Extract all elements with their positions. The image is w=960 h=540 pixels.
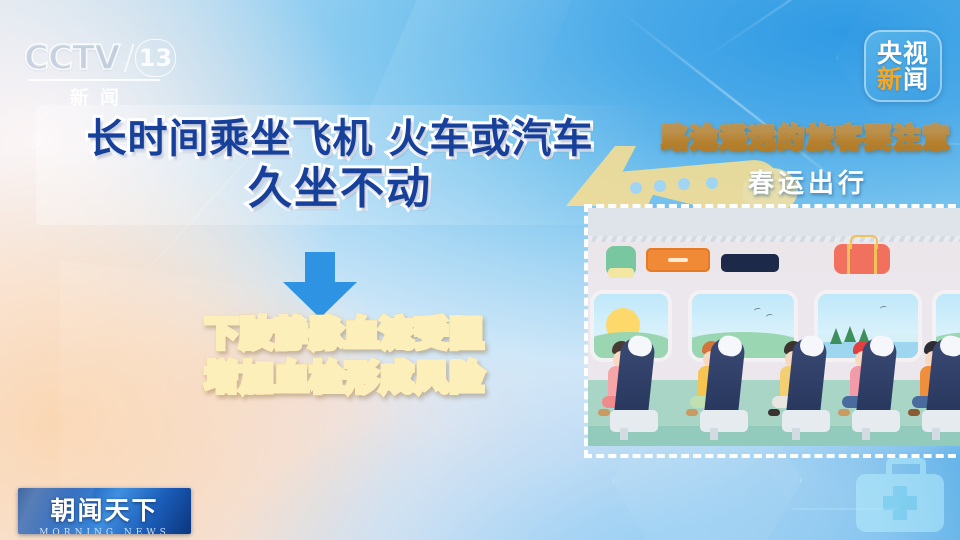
cctv-slash: / [123, 38, 134, 78]
cabin-ceiling [588, 208, 960, 238]
consequence-line-2: 增加血栓形成风险 [170, 356, 520, 400]
luggage-red-duffel [834, 244, 890, 274]
duffel-strap-1 [847, 244, 850, 274]
passenger-4-shoe [838, 409, 850, 416]
seat-3-base [782, 410, 830, 432]
passenger-2-shoe [686, 409, 698, 416]
cctv-underline [28, 79, 160, 81]
cctv-wordmark: CCTV [24, 38, 119, 78]
window-tree-3 [830, 328, 842, 344]
badge-line-2: 新闻 [877, 67, 929, 92]
program-banner: 朝闻天下 MORNING NEWS [18, 488, 191, 534]
headline-line-1: 长时间乘坐飞机 火车或汽车 [60, 118, 620, 161]
seat-2-base [700, 410, 748, 432]
badge-line-1: 央视 [877, 41, 929, 66]
cctv-channel-number: 13 [135, 39, 176, 77]
down-arrow-icon [283, 252, 357, 318]
seat-5-leg [932, 428, 940, 440]
badge-line2-orange: 新 [877, 65, 903, 94]
seat-2-leg [710, 428, 718, 440]
seat-2 [700, 340, 748, 436]
passenger-1-shoe [598, 409, 610, 416]
program-name-cn: 朝闻天下 [18, 491, 191, 527]
side-title: 路途遥远的旅客要注意 [592, 118, 952, 155]
seat-3 [782, 340, 830, 436]
cctv-news-app-badge: 央视 新闻 [864, 30, 942, 102]
seat-5 [922, 340, 960, 436]
seat-1-base [610, 410, 658, 432]
seat-4 [852, 340, 900, 436]
headline-line-2: 久坐不动 [60, 165, 620, 213]
badge-line2-white: 闻 [903, 65, 929, 94]
duffel-strap-2 [874, 244, 877, 274]
cctv13-logo: CCTV / 13 新闻 [24, 38, 176, 102]
seat-1-leg [620, 428, 628, 440]
seat-5-base [922, 410, 960, 432]
first-aid-kit-icon [856, 458, 944, 532]
passenger-3-shoe [768, 409, 780, 416]
seat-4-leg [862, 428, 870, 440]
seat-3-leg [792, 428, 800, 440]
broadcast-screen: CCTV / 13 新闻 央视 新闻 长时间乘坐飞机 火车或汽车 久坐不动 下肢… [0, 0, 960, 540]
consequence-block: 下肢静脉血流受阻 增加血栓形成风险 [170, 312, 520, 399]
program-name-en: MORNING NEWS [18, 528, 191, 534]
arrow-shaft [305, 252, 335, 286]
consequence-line-1: 下肢静脉血流受阻 [170, 312, 520, 356]
medkit-cross-horizontal [883, 496, 917, 510]
luggage-orange-suitcase [646, 248, 710, 272]
headline-block: 长时间乘坐飞机 火车或汽车 久坐不动 [60, 118, 620, 213]
luggage-backpack [606, 246, 636, 274]
cabin-illustration [588, 208, 960, 446]
passenger-5-shoe [908, 409, 920, 416]
side-subtitle: 春运出行 [608, 163, 868, 200]
seat-1 [610, 340, 658, 436]
seat-4-base [852, 410, 900, 432]
luggage-navy-bag [721, 254, 779, 272]
